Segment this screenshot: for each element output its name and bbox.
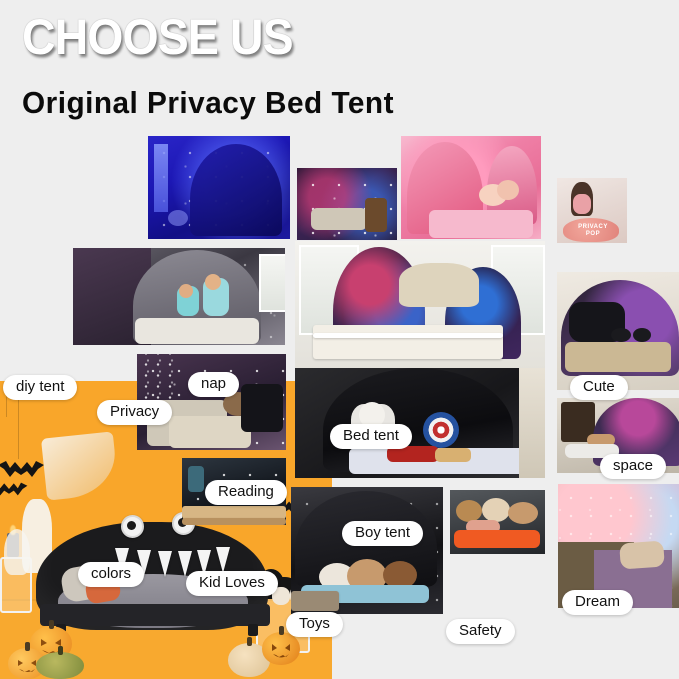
photo-tile-galaxy-twin-tents[interactable] bbox=[295, 241, 545, 370]
photo-tile-kids-in-tent[interactable] bbox=[73, 248, 285, 345]
bed-frame-base bbox=[40, 604, 270, 626]
photo-tile-pink-tent[interactable] bbox=[401, 136, 541, 239]
cobweb-decoration bbox=[41, 431, 119, 500]
monster-fang bbox=[216, 547, 230, 573]
caption-kid-loves[interactable]: Kid Loves bbox=[186, 571, 278, 596]
photo-tile-galaxy-bedroom[interactable] bbox=[297, 168, 397, 240]
caption-bed-tent[interactable]: Bed tent bbox=[330, 424, 412, 449]
photo-tile-blue-room[interactable] bbox=[148, 136, 290, 239]
monster-eye bbox=[121, 515, 144, 538]
bed-leg bbox=[248, 624, 258, 636]
monster-fang bbox=[158, 551, 172, 577]
page-title: CHOOSE US bbox=[22, 10, 293, 64]
caption-space[interactable]: space bbox=[600, 454, 666, 479]
caption-dream[interactable]: Dream bbox=[562, 590, 633, 615]
caption-reading[interactable]: Reading bbox=[205, 480, 287, 505]
caption-cute[interactable]: Cute bbox=[570, 375, 628, 400]
photo-tile-black-bed-tent[interactable] bbox=[295, 368, 545, 478]
photo-tile-privacy-pop[interactable]: PRIVACYPOP bbox=[557, 178, 627, 243]
caption-boy-tent[interactable]: Boy tent bbox=[342, 521, 423, 546]
pumpkin-decoration bbox=[262, 632, 300, 665]
caption-safety[interactable]: Safety bbox=[446, 619, 515, 644]
caption-colors[interactable]: colors bbox=[78, 562, 144, 587]
collage-canvas: CHOOSE US Original Privacy Bed Tent bbox=[0, 0, 679, 679]
page-subtitle: Original Privacy Bed Tent bbox=[22, 85, 394, 121]
caption-diy-tent[interactable]: diy tent bbox=[3, 375, 77, 400]
photo-tile-safety[interactable] bbox=[450, 490, 545, 554]
photo-tile-cute[interactable] bbox=[557, 272, 679, 390]
caption-toys[interactable]: Toys bbox=[286, 612, 343, 637]
caption-privacy[interactable]: Privacy bbox=[97, 400, 172, 425]
photo-tile-boy-tent[interactable] bbox=[291, 487, 443, 614]
caption-nap[interactable]: nap bbox=[188, 372, 239, 397]
pumpkin-decoration bbox=[36, 652, 84, 679]
